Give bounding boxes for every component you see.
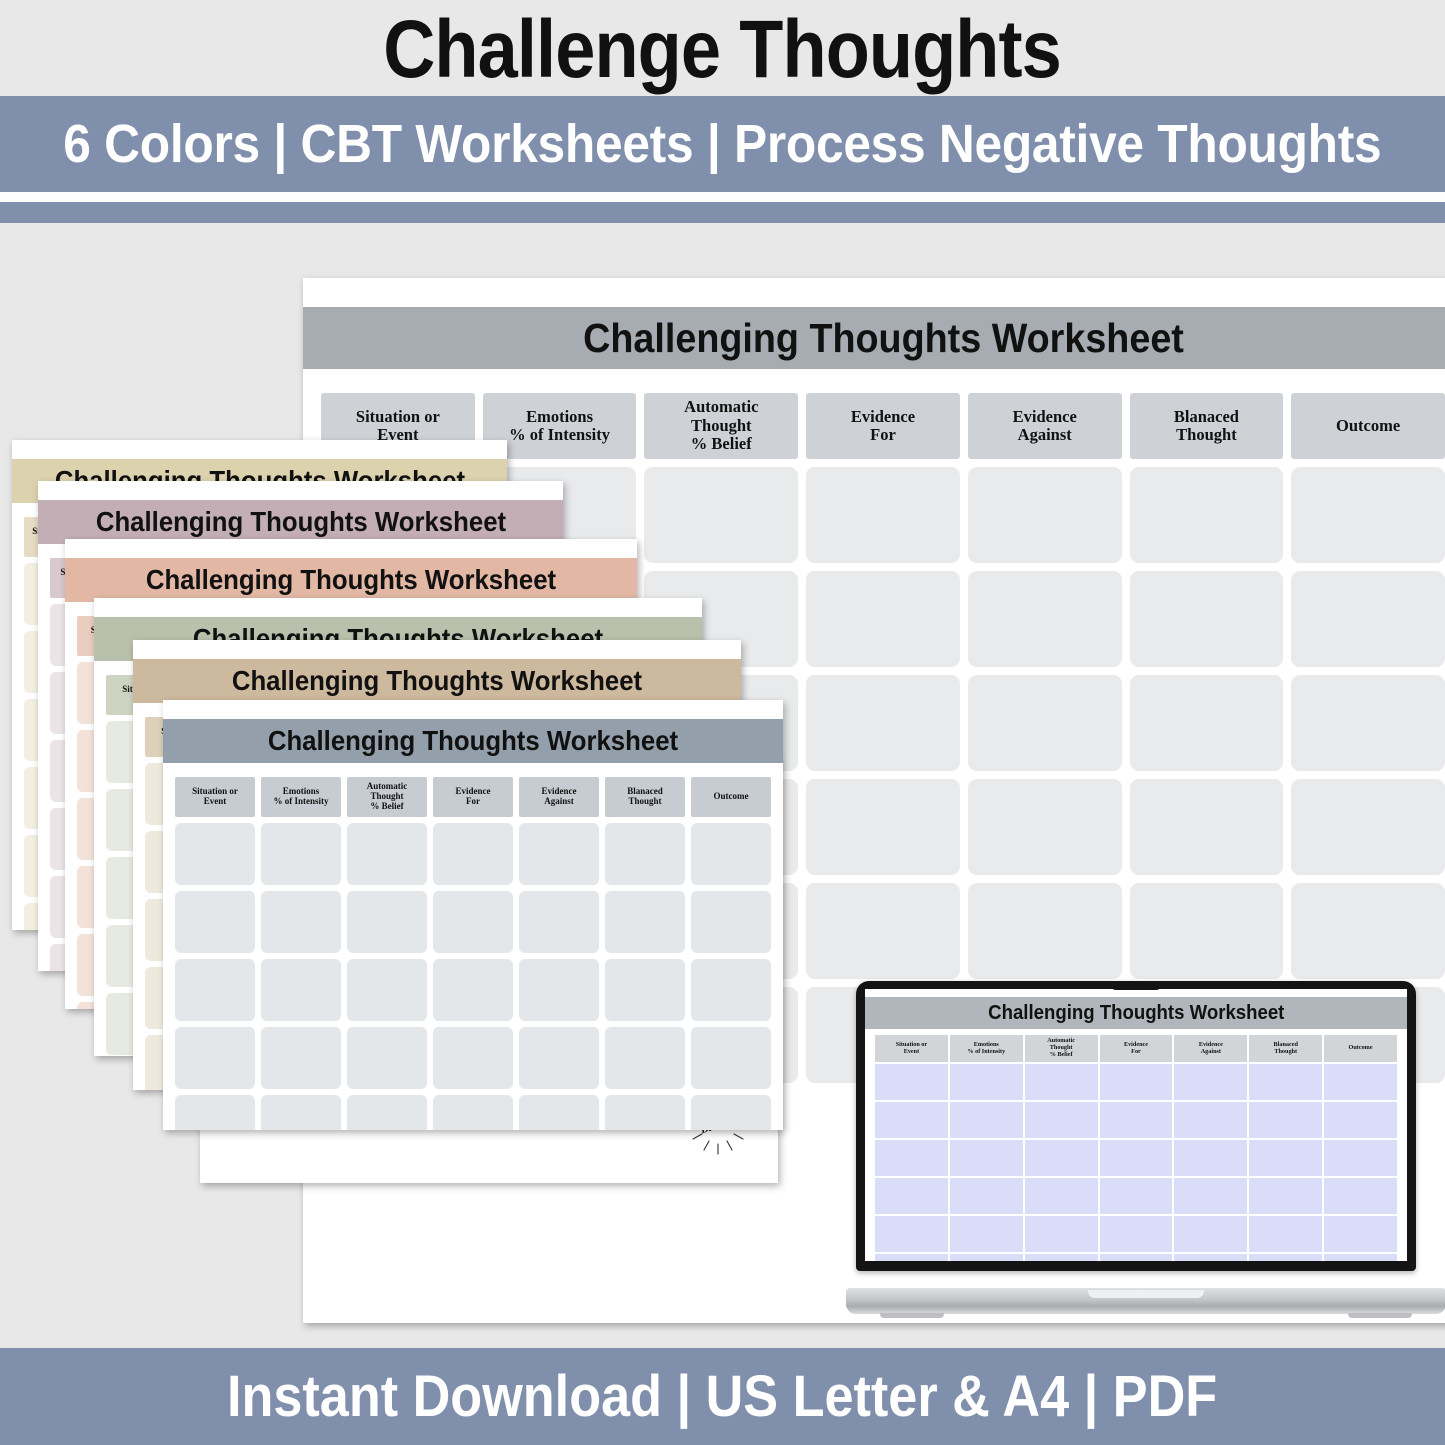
laptop-base-notch: [1088, 1290, 1204, 1298]
main-worksheet-title: Challenging Thoughts Worksheet: [583, 315, 1184, 362]
stacked-sheet-title: Challenging Thoughts Worksheet: [232, 665, 642, 697]
worksheet-blank-cell[interactable]: [347, 823, 427, 885]
worksheet-blank-cell[interactable]: [644, 467, 798, 563]
column-header-cell: AutomaticThought% Belief: [1025, 1035, 1098, 1062]
worksheet-blank-cell[interactable]: [347, 1095, 427, 1130]
column-header-cell: Situation orEvent: [875, 1035, 948, 1062]
column-header-line: Thought: [691, 417, 752, 435]
worksheet-blank-cell[interactable]: [433, 891, 513, 953]
column-header-line: Outcome: [1336, 417, 1400, 435]
stacked-sheet-slate[interactable]: Challenging Thoughts WorksheetSituation …: [163, 700, 783, 1130]
worksheet-blank-cell[interactable]: [968, 675, 1122, 771]
column-header-cell: Emotions% of Intensity: [261, 777, 341, 817]
main-worksheet-title-band: Challenging Thoughts Worksheet: [303, 307, 1445, 369]
worksheet-blank-cell[interactable]: [950, 1178, 1023, 1214]
top-title-zone: Challenge Thoughts: [0, 0, 1445, 96]
stacked-sheet-title: Challenging Thoughts Worksheet: [95, 506, 505, 538]
laptop-worksheet-title-band: Challenging Thoughts Worksheet: [865, 997, 1407, 1029]
worksheet-blank-cell[interactable]: [347, 891, 427, 953]
column-header-cell: Outcome: [1324, 1035, 1397, 1062]
worksheet-blank-cell[interactable]: [605, 823, 685, 885]
worksheet-blank-cell[interactable]: [806, 675, 960, 771]
worksheet-blank-cell[interactable]: [519, 959, 599, 1021]
worksheet-blank-cell[interactable]: [968, 571, 1122, 667]
column-header-line: Evidence: [1013, 408, 1077, 426]
column-header-cell: EvidenceAgainst: [519, 777, 599, 817]
column-header-cell: BlanacedThought: [1249, 1035, 1322, 1062]
worksheet-blank-cell[interactable]: [950, 1216, 1023, 1252]
column-header-cell: BlanacedThought: [1130, 393, 1284, 459]
worksheet-blank-cell[interactable]: [605, 1027, 685, 1089]
worksheet-blank-cell[interactable]: [261, 1095, 341, 1130]
column-header-cell: EvidenceAgainst: [1174, 1035, 1247, 1062]
worksheet-blank-cell[interactable]: [261, 823, 341, 885]
worksheet-blank-cell[interactable]: [347, 959, 427, 1021]
worksheet-blank-cell[interactable]: [1025, 1216, 1098, 1252]
column-header-line: Against: [1201, 1049, 1221, 1056]
column-header-line: % of Intensity: [967, 1049, 1005, 1056]
worksheet-blank-cell[interactable]: [1249, 1178, 1322, 1214]
worksheet-blank-cell[interactable]: [1249, 1102, 1322, 1138]
worksheet-blank-cell[interactable]: [1249, 1064, 1322, 1100]
worksheet-blank-cell[interactable]: [1130, 675, 1284, 771]
worksheet-blank-cell[interactable]: [950, 1064, 1023, 1100]
worksheet-blank-cell[interactable]: [1174, 1178, 1247, 1214]
column-header-cell: EvidenceAgainst: [968, 393, 1122, 459]
column-header-cell: AutomaticThought% Belief: [644, 393, 798, 459]
worksheet-blank-cell[interactable]: [433, 1095, 513, 1130]
worksheet-blank-cell[interactable]: [806, 467, 960, 563]
worksheet-blank-cell[interactable]: [1100, 1140, 1173, 1176]
column-header-cell: EvidenceFor: [806, 393, 960, 459]
worksheet-blank-cell[interactable]: [1025, 1064, 1098, 1100]
worksheet-blank-cell[interactable]: [806, 779, 960, 875]
column-header-line: Outcome: [714, 792, 749, 802]
worksheet-blank-cell[interactable]: [261, 959, 341, 1021]
worksheet-blank-cell[interactable]: [175, 1027, 255, 1089]
worksheet-blank-cell[interactable]: [1324, 1216, 1397, 1252]
worksheet-blank-cell[interactable]: [875, 1216, 948, 1252]
worksheet-blank-cell[interactable]: [1324, 1064, 1397, 1100]
worksheet-blank-cell[interactable]: [175, 891, 255, 953]
worksheet-blank-cell[interactable]: [1100, 1064, 1173, 1100]
worksheet-blank-cell[interactable]: [950, 1140, 1023, 1176]
worksheet-blank-cell[interactable]: [1025, 1178, 1098, 1214]
column-header-line: % Belief: [370, 802, 403, 812]
column-header-line: Blanaced: [1174, 408, 1239, 426]
worksheet-blank-cell[interactable]: [691, 823, 771, 885]
column-header-cell: Outcome: [691, 777, 771, 817]
worksheet-blank-cell[interactable]: [875, 1254, 948, 1261]
page-title: Challenge Thoughts: [384, 9, 1062, 91]
stacked-sheet-title-band: Challenging Thoughts Worksheet: [133, 659, 741, 703]
column-header-line: Against: [544, 797, 574, 807]
column-header-line: Outcome: [1349, 1045, 1373, 1052]
listing-canvas: Challenge Thoughts 6 Colors | CBT Worksh…: [0, 0, 1445, 1445]
laptop-lid: Challenging Thoughts Worksheet Situation…: [856, 981, 1416, 1271]
column-header-cell: AutomaticThought% Belief: [347, 777, 427, 817]
column-header-cell: BlanacedThought: [605, 777, 685, 817]
worksheet-blank-cell[interactable]: [519, 1095, 599, 1130]
worksheet-blank-cell[interactable]: [875, 1102, 948, 1138]
column-header-line: Situation or: [356, 408, 440, 426]
worksheet-blank-cell[interactable]: [1291, 779, 1445, 875]
column-header-line: Automatic: [684, 398, 758, 416]
worksheet-blank-cell[interactable]: [1100, 1102, 1173, 1138]
worksheet-blank-cell[interactable]: [261, 1027, 341, 1089]
worksheet-blank-cell[interactable]: [875, 1140, 948, 1176]
worksheet-blank-cell[interactable]: [1249, 1140, 1322, 1176]
worksheet-blank-cell[interactable]: [1249, 1216, 1322, 1252]
worksheet-blank-cell[interactable]: [605, 891, 685, 953]
worksheet-blank-cell[interactable]: [1249, 1254, 1322, 1261]
column-header-line: % of Intensity: [273, 797, 328, 807]
worksheet-blank-cell[interactable]: [605, 1095, 685, 1130]
column-header-line: % Belief: [1050, 1052, 1073, 1059]
column-header-line: Event: [904, 1049, 919, 1056]
worksheet-blank-cell[interactable]: [691, 959, 771, 1021]
worksheet-blank-cell[interactable]: [433, 959, 513, 1021]
worksheet-blank-cell[interactable]: [691, 1027, 771, 1089]
worksheet-blank-cell[interactable]: [1324, 1178, 1397, 1214]
worksheet-blank-cell[interactable]: [519, 891, 599, 953]
laptop-foot-right: [1348, 1313, 1412, 1318]
worksheet-blank-cell[interactable]: [519, 1027, 599, 1089]
column-header-line: Emotions: [526, 408, 593, 426]
worksheet-blank-cell[interactable]: [1174, 1216, 1247, 1252]
column-header-line: For: [466, 797, 480, 807]
stacked-sheet-title: Challenging Thoughts Worksheet: [268, 725, 678, 757]
laptop-screen: Challenging Thoughts Worksheet Situation…: [865, 989, 1407, 1261]
footer-text: Instant Download | US Letter & A4 | PDF: [227, 1368, 1217, 1426]
column-header-line: Event: [204, 797, 227, 807]
stacked-sheet-table: Situation orEventEmotions% of IntensityA…: [175, 777, 771, 1130]
worksheet-blank-cell[interactable]: [1025, 1102, 1098, 1138]
worksheet-blank-cell[interactable]: [433, 1027, 513, 1089]
column-header-line: Thought: [628, 797, 661, 807]
banner-accent-stripe: [0, 202, 1445, 223]
laptop-mockup: Challenging Thoughts Worksheet Situation…: [846, 963, 1445, 1318]
worksheet-blank-cell[interactable]: [1174, 1140, 1247, 1176]
worksheet-blank-cell[interactable]: [605, 959, 685, 1021]
worksheet-blank-cell[interactable]: [1130, 467, 1284, 563]
worksheet-blank-cell[interactable]: [261, 891, 341, 953]
worksheet-blank-cell[interactable]: [433, 823, 513, 885]
banner-gap-divider: [0, 192, 1445, 202]
column-header-line: Against: [1018, 426, 1072, 444]
subtitle-text: 6 Colors | CBT Worksheets | Process Nega…: [63, 117, 1381, 171]
stacked-sheet-title-band: Challenging Thoughts Worksheet: [65, 558, 637, 602]
worksheet-blank-cell[interactable]: [175, 1095, 255, 1130]
column-header-line: Thought: [1274, 1049, 1297, 1056]
worksheet-blank-cell[interactable]: [1100, 1178, 1173, 1214]
laptop-worksheet-table: Situation orEventEmotions% of IntensityA…: [875, 1035, 1397, 1261]
worksheet-blank-cell[interactable]: [1174, 1102, 1247, 1138]
column-header-line: Evidence: [851, 408, 915, 426]
worksheet-blank-cell[interactable]: [1291, 675, 1445, 771]
laptop-worksheet-title: Challenging Thoughts Worksheet: [988, 1002, 1284, 1025]
column-header-cell: Emotions% of Intensity: [950, 1035, 1023, 1062]
worksheet-blank-cell[interactable]: [347, 1027, 427, 1089]
laptop-camera-notch: [1110, 981, 1162, 990]
footer-banner: Instant Download | US Letter & A4 | PDF: [0, 1348, 1445, 1445]
worksheet-blank-cell[interactable]: [950, 1102, 1023, 1138]
worksheet-blank-cell[interactable]: [950, 1254, 1023, 1261]
worksheet-blank-cell[interactable]: [875, 1064, 948, 1100]
worksheet-blank-cell[interactable]: [968, 467, 1122, 563]
worksheet-blank-cell[interactable]: [968, 779, 1122, 875]
worksheet-blank-cell[interactable]: [1130, 571, 1284, 667]
column-header-line: Thought: [1176, 426, 1237, 444]
worksheet-blank-cell[interactable]: [1100, 1216, 1173, 1252]
column-header-line: % of Intensity: [509, 426, 610, 444]
column-header-line: For: [870, 426, 896, 444]
worksheet-blank-cell[interactable]: [1324, 1140, 1397, 1176]
stacked-sheet-title-band: Challenging Thoughts Worksheet: [163, 719, 783, 763]
worksheet-blank-cell[interactable]: [806, 571, 960, 667]
worksheet-blank-cell[interactable]: [875, 1178, 948, 1214]
column-header-line: % Belief: [691, 435, 752, 453]
worksheet-blank-cell[interactable]: [1025, 1140, 1098, 1176]
worksheet-blank-cell[interactable]: [1174, 1064, 1247, 1100]
worksheet-blank-cell[interactable]: [691, 891, 771, 953]
worksheet-blank-cell[interactable]: [691, 1095, 771, 1130]
column-header-line: For: [1131, 1049, 1141, 1056]
column-header-cell: Situation orEvent: [175, 777, 255, 817]
worksheet-blank-cell[interactable]: [175, 823, 255, 885]
worksheet-blank-cell[interactable]: [1324, 1254, 1397, 1261]
worksheet-blank-cell[interactable]: [1174, 1254, 1247, 1261]
stacked-sheet-title: Challenging Thoughts Worksheet: [146, 564, 556, 596]
column-header-cell: Outcome: [1291, 393, 1445, 459]
worksheet-blank-cell[interactable]: [1291, 571, 1445, 667]
worksheet-blank-cell[interactable]: [1100, 1254, 1173, 1261]
laptop-foot-left: [880, 1313, 944, 1318]
worksheet-blank-cell[interactable]: [519, 823, 599, 885]
worksheet-blank-cell[interactable]: [1130, 779, 1284, 875]
subtitle-banner: 6 Colors | CBT Worksheets | Process Nega…: [0, 96, 1445, 192]
worksheet-blank-cell[interactable]: [1291, 467, 1445, 563]
worksheet-blank-cell[interactable]: [175, 959, 255, 1021]
worksheet-blank-cell[interactable]: [1324, 1102, 1397, 1138]
column-header-cell: EvidenceFor: [1100, 1035, 1173, 1062]
worksheet-blank-cell[interactable]: [1025, 1254, 1098, 1261]
stacked-sheet-title-band: Challenging Thoughts Worksheet: [38, 500, 563, 544]
column-header-cell: EvidenceFor: [433, 777, 513, 817]
